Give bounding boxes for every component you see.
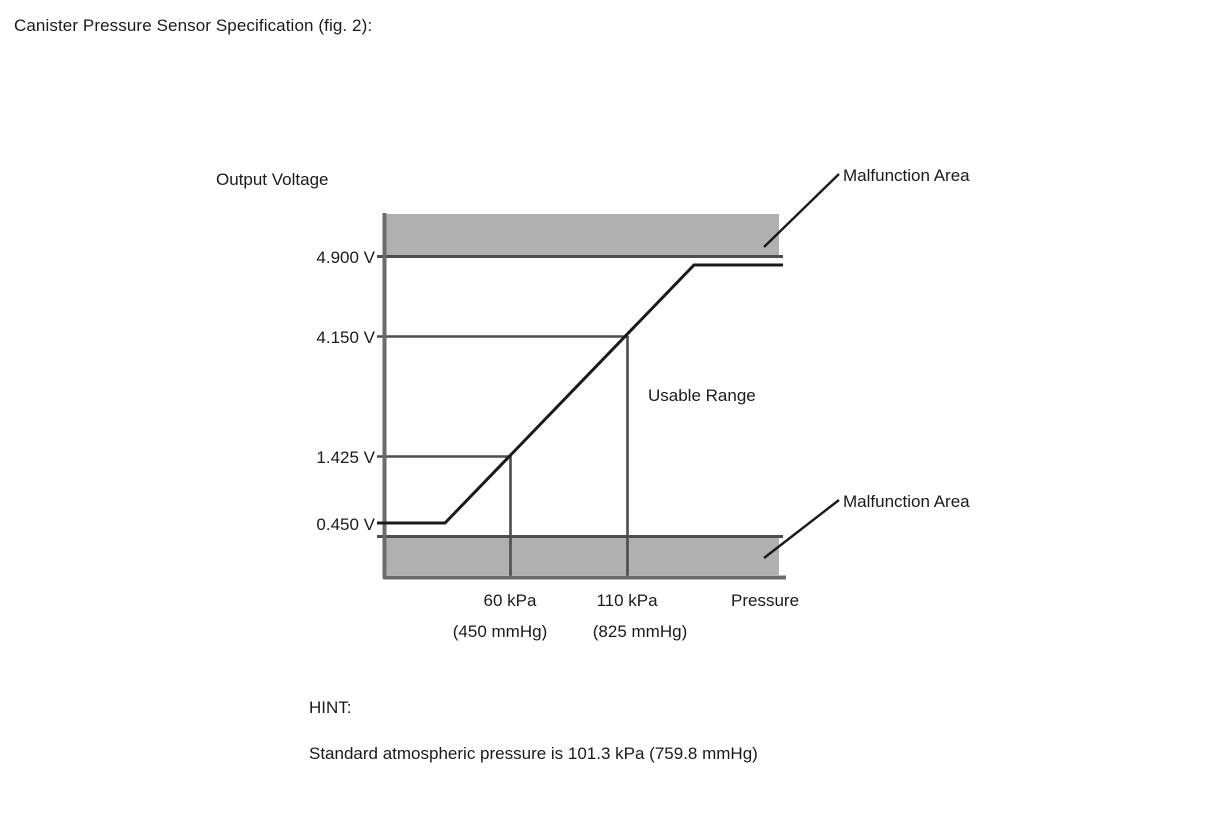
hint-label: HINT: [309, 698, 1069, 718]
annotation-malfunction-area-lower: Malfunction Area [843, 493, 970, 510]
annotation-usable-range: Usable Range [648, 387, 756, 404]
malfunction-band-upper [385, 214, 779, 256]
y-tick-label-450mv: 0.450 V [225, 516, 375, 533]
x-tick-label-825-mmhg: (825 mmHg) [568, 623, 712, 640]
hint-text: Standard atmospheric pressure is 101.3 k… [309, 744, 1069, 764]
x-tick-label-110-kpa: 110 kPa [557, 592, 697, 609]
y-tick-label-1425mv: 1.425 V [225, 449, 375, 466]
leader-line-malfunction-lower [764, 500, 839, 558]
sensor-specification-figure: Output Voltage Pressure 4.900 V 4.150 V … [0, 0, 1210, 700]
hint-block: HINT: Standard atmospheric pressure is 1… [309, 698, 1069, 764]
x-axis-title: Pressure [731, 592, 799, 609]
y-axis-title: Output Voltage [216, 171, 328, 188]
leader-line-malfunction-upper [764, 174, 839, 247]
annotation-malfunction-area-upper: Malfunction Area [843, 167, 970, 184]
malfunction-band-lower [385, 537, 779, 575]
y-tick-label-4900mv: 4.900 V [225, 249, 375, 266]
x-tick-label-450-mmhg: (450 mmHg) [428, 623, 572, 640]
y-tick-label-4150mv: 4.150 V [225, 329, 375, 346]
